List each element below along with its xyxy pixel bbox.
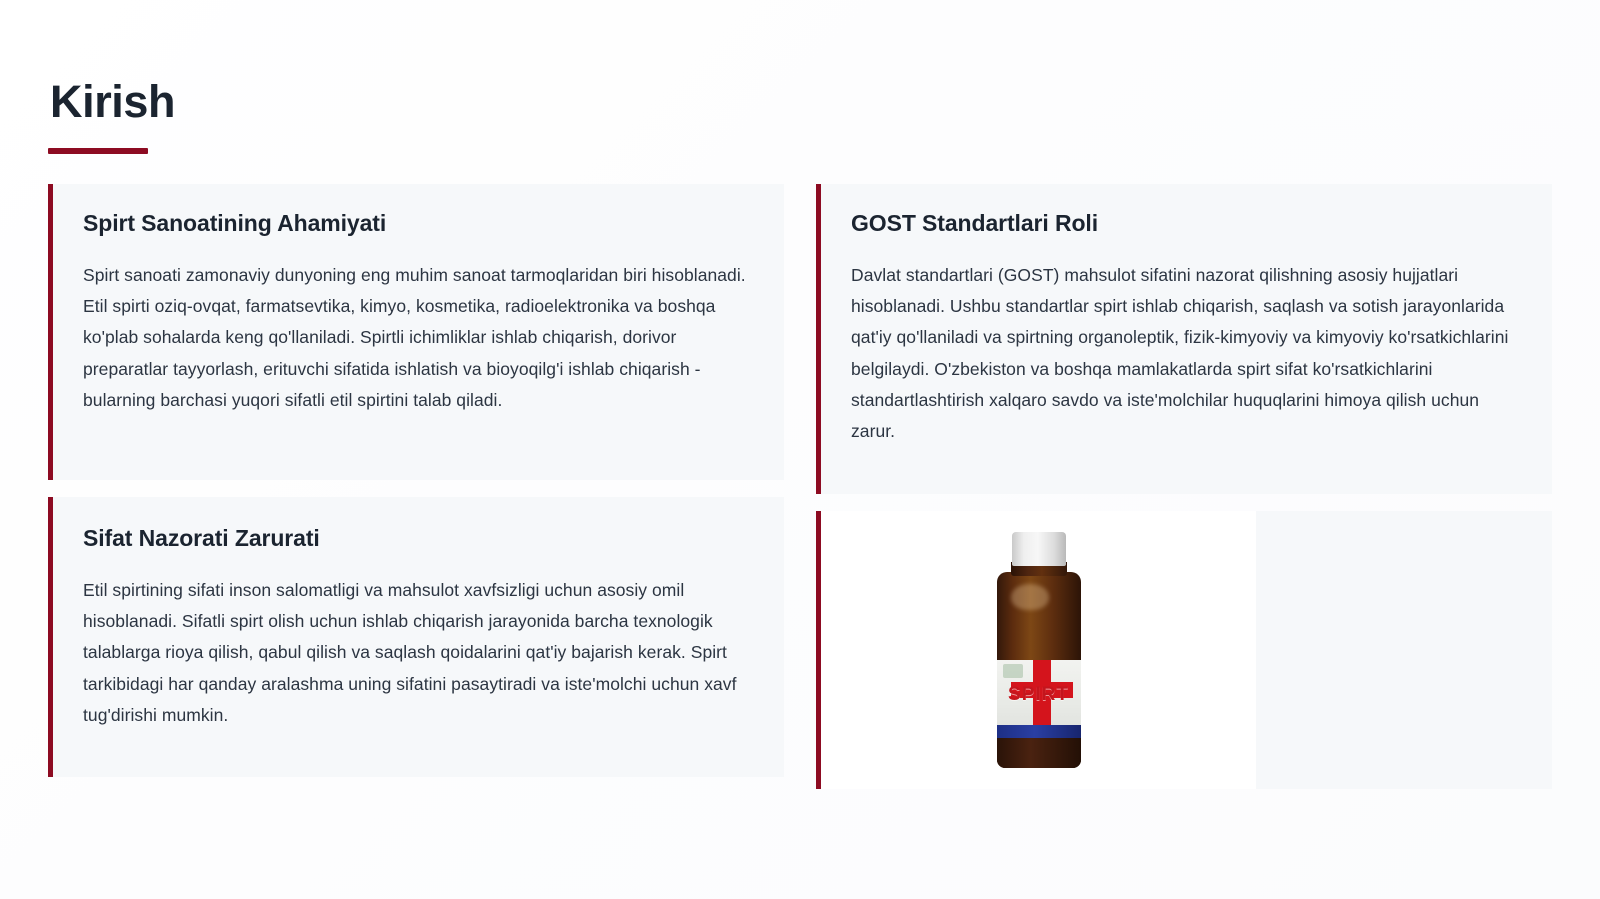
card-body: Davlat standartlari (GOST) mahsulot sifa…	[851, 260, 1522, 448]
card-sifat-nazorati-zarurati: Sifat Nazorati Zarurati Etil spirtining …	[48, 497, 784, 777]
spirt-bottle-illustration: SPIRT	[985, 532, 1093, 768]
page-title: Kirish	[48, 78, 1552, 125]
card-title: Sifat Nazorati Zarurati	[83, 525, 754, 553]
left-column: Spirt Sanoatining Ahamiyati Spirt sanoat…	[48, 184, 784, 777]
card-spirt-sanoatining-ahamiyati: Spirt Sanoatining Ahamiyati Spirt sanoat…	[48, 184, 784, 480]
bottle-base	[997, 738, 1081, 768]
label-blue-band	[997, 725, 1081, 738]
title-underline-rule	[48, 148, 148, 154]
bottle-label-text: SPIRT	[997, 684, 1081, 706]
slide-root: Kirish Spirt Sanoatining Ahamiyati Spirt…	[0, 0, 1600, 899]
card-body: Spirt sanoati zamonaviy dunyoning eng mu…	[83, 260, 754, 417]
bottle-label: SPIRT	[997, 660, 1081, 738]
card-title: GOST Standartlari Roli	[851, 210, 1522, 238]
right-column: GOST Standartlari Roli Davlat standartla…	[816, 184, 1552, 789]
two-column-layout: Spirt Sanoatining Ahamiyati Spirt sanoat…	[48, 184, 1552, 789]
card-title: Spirt Sanoatining Ahamiyati	[83, 210, 754, 238]
card-gost-standartlari-roli: GOST Standartlari Roli Davlat standartla…	[816, 184, 1552, 494]
card-spirt-bottle-image: SPIRT	[816, 511, 1552, 789]
label-corner-mark	[1003, 664, 1023, 678]
bottle-image-frame: SPIRT	[821, 511, 1256, 789]
bottle-cap	[1012, 532, 1066, 566]
card-body: Etil spirtining sifati inson salomatligi…	[83, 575, 754, 732]
bottle-gloss-highlight	[1011, 584, 1049, 610]
